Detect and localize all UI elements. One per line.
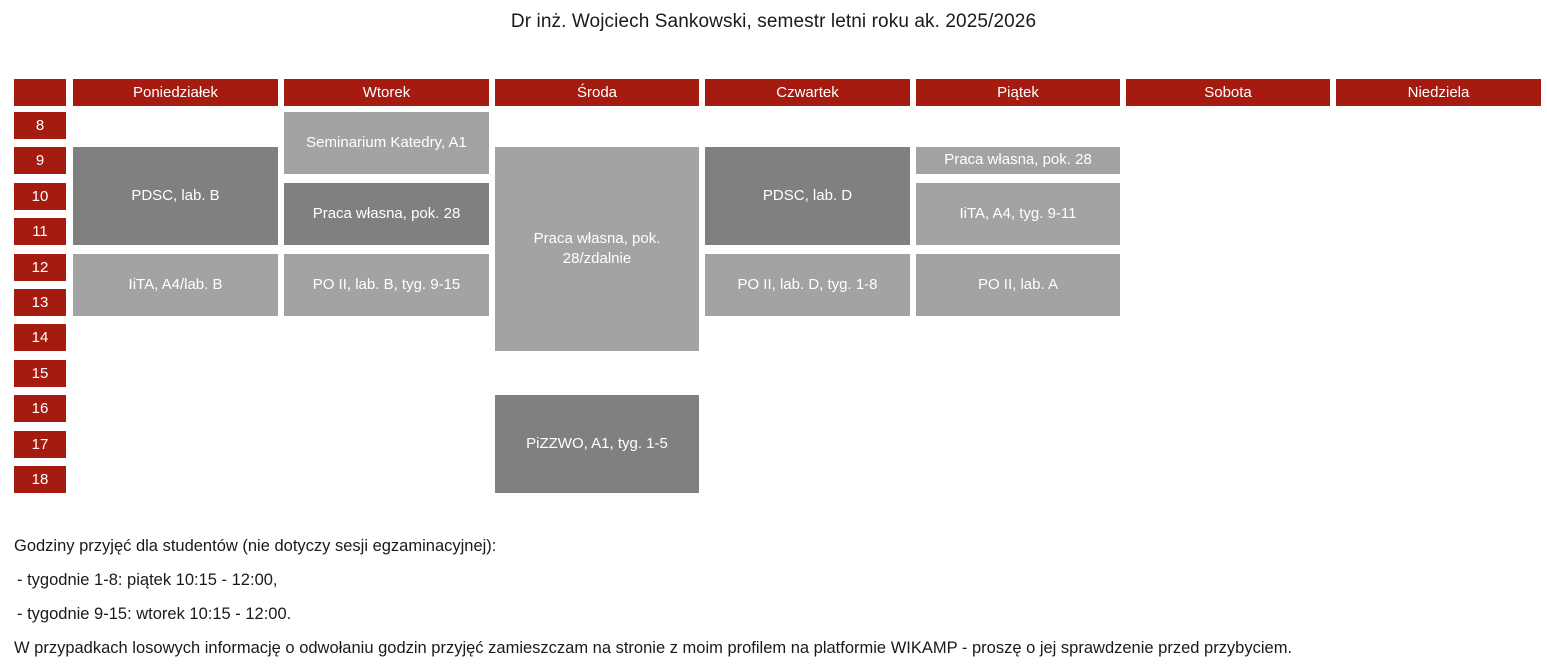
day-header-6: Sobota bbox=[1126, 79, 1330, 106]
footer-line-weeks-1-8: - tygodnie 1-8: piątek 10:15 - 12:00, bbox=[0, 571, 1547, 590]
timetable-event[interactable]: PO II, lab. B, tyg. 9-15 bbox=[284, 254, 489, 316]
hour-label-11: 11 bbox=[14, 218, 66, 245]
timetable-event[interactable]: PO II, lab. D, tyg. 1-8 bbox=[705, 254, 910, 316]
day-header-3: Środa bbox=[495, 79, 699, 106]
timetable-event[interactable]: Praca własna, pok. 28 bbox=[916, 147, 1120, 174]
timetable-event[interactable]: Seminarium Katedry, A1 bbox=[284, 112, 489, 174]
hour-label-12: 12 bbox=[14, 254, 66, 281]
hour-label-15: 15 bbox=[14, 360, 66, 387]
hour-label-14: 14 bbox=[14, 324, 66, 351]
day-header-4: Czwartek bbox=[705, 79, 910, 106]
hour-label-18: 18 bbox=[14, 466, 66, 493]
hour-label-10: 10 bbox=[14, 183, 66, 210]
footer-line-weeks-9-15: - tygodnie 9-15: wtorek 10:15 - 12:00. bbox=[0, 605, 1547, 624]
timetable-event[interactable]: IiTA, A4/lab. B bbox=[73, 254, 278, 316]
timetable-grid: PoniedziałekWtorekŚrodaCzwartekPiątekSob… bbox=[0, 0, 1547, 520]
timetable-event[interactable]: Praca własna, pok. 28 bbox=[284, 183, 489, 245]
day-header-1: Poniedziałek bbox=[73, 79, 278, 106]
hour-label-9: 9 bbox=[14, 147, 66, 174]
hour-label-8: 8 bbox=[14, 112, 66, 139]
timetable-event[interactable]: PO II, lab. A bbox=[916, 254, 1120, 316]
timetable-event[interactable]: Praca własna, pok. 28/zdalnie bbox=[495, 147, 699, 351]
timetable-event[interactable]: PDSC, lab. B bbox=[73, 147, 278, 245]
day-header-7: Niedziela bbox=[1336, 79, 1541, 106]
footer-line-office-hours-heading: Godziny przyjęć dla studentów (nie dotyc… bbox=[0, 537, 1547, 556]
hour-label-13: 13 bbox=[14, 289, 66, 316]
day-header-2: Wtorek bbox=[284, 79, 489, 106]
timetable-event[interactable]: PiZZWO, A1, tyg. 1-5 bbox=[495, 395, 699, 493]
timetable-event[interactable]: PDSC, lab. D bbox=[705, 147, 910, 245]
hour-label-16: 16 bbox=[14, 395, 66, 422]
day-header-5: Piątek bbox=[916, 79, 1120, 106]
timetable-corner-header bbox=[14, 79, 66, 106]
timetable-event[interactable]: IiTA, A4, tyg. 9-11 bbox=[916, 183, 1120, 245]
footer-notes: Godziny przyjęć dla studentów (nie dotyc… bbox=[0, 524, 1547, 658]
footer-line-wikamp-notice: W przypadkach losowych informację o odwo… bbox=[0, 639, 1547, 658]
hour-label-17: 17 bbox=[14, 431, 66, 458]
